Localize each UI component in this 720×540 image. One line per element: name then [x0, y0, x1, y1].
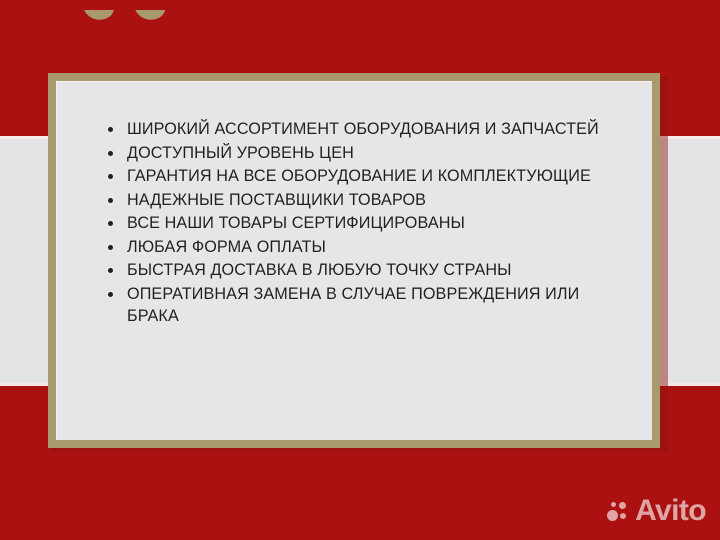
content-card-frame: ШИРОКИЙ АССОРТИМЕНТ ОБОРУДОВАНИЯ И ЗАПЧА… — [48, 73, 660, 448]
avito-logo-icon — [607, 500, 630, 522]
list-item: ЛЮБАЯ ФОРМА ОПЛАТЫ — [104, 236, 630, 259]
benefits-list: ШИРОКИЙ АССОРТИМЕНТ ОБОРУДОВАНИЯ И ЗАПЧА… — [104, 118, 630, 329]
avito-dot-large — [607, 510, 618, 521]
avito-dot-top-right — [619, 502, 626, 509]
list-item: ДОСТУПНЫЙ УРОВЕНЬ ЦЕН — [104, 142, 630, 165]
list-item: ГАРАНТИЯ НА ВСЕ ОБОРУДОВАНИЕ И КОМПЛЕКТУ… — [104, 165, 630, 188]
avito-watermark: Avito — [607, 496, 706, 526]
avito-wordmark: Avito — [635, 496, 706, 526]
slide-canvas: “ ШИРОКИЙ АССОРТИМЕНТ ОБОРУДОВАНИЯ И ЗАП… — [0, 0, 720, 540]
content-card-panel: ШИРОКИЙ АССОРТИМЕНТ ОБОРУДОВАНИЯ И ЗАПЧА… — [56, 81, 652, 440]
list-item: ШИРОКИЙ АССОРТИМЕНТ ОБОРУДОВАНИЯ И ЗАПЧА… — [104, 118, 630, 141]
list-item: ОПЕРАТИВНАЯ ЗАМЕНА В СЛУЧАЕ ПОВРЕЖДЕНИЯ … — [104, 283, 630, 328]
list-item: БЫСТРАЯ ДОСТАВКА В ЛЮБУЮ ТОЧКУ СТРАНЫ — [104, 259, 630, 282]
list-item: НАДЕЖНЫЕ ПОСТАВЩИКИ ТОВАРОВ — [104, 189, 630, 212]
avito-dot-bottom-right — [620, 513, 626, 519]
avito-dot-top-left — [611, 502, 616, 507]
list-item: ВСЕ НАШИ ТОВАРЫ СЕРТИФИЦИРОВАНЫ — [104, 212, 630, 235]
